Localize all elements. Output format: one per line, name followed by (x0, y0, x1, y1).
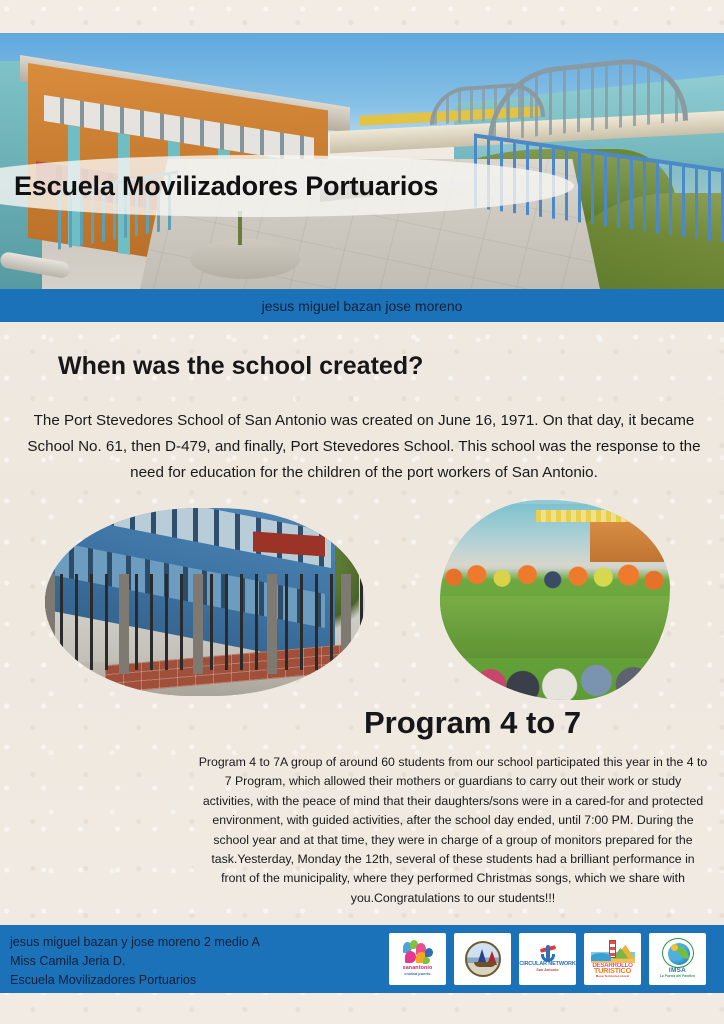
san-antonio-logo-subtext: ciudad puerto (404, 972, 430, 978)
network-logo: CIRCULAR NETWORK San Antonio (519, 933, 576, 985)
anchor-icon (538, 944, 558, 962)
footer-line-1: jesus miguel bazan y jose moreno 2 medio… (10, 933, 260, 952)
authors-banner-text: jesus miguel bazan jose moreno (262, 298, 463, 314)
hero-photo: Escuela Movilizadores Portuarios (0, 33, 724, 289)
section-two-paragraph: Program 4 to 7A group of around 60 stude… (198, 753, 708, 908)
section-one-heading: When was the school created? (58, 352, 423, 381)
photo-right-crowd-standing (440, 546, 670, 598)
imsa-logo-subtext: La Puerta del Pacifico (660, 974, 695, 980)
footer-logo-strip: sanantonio ciudad puerto CIRCULAR NETWOR… (389, 933, 706, 985)
school-crest-logo-icon (465, 941, 501, 977)
footer-bar: jesus miguel bazan y jose moreno 2 medio… (0, 925, 724, 993)
page-title: Escuela Movilizadores Portuarios (14, 171, 438, 202)
school-building-photo (45, 508, 365, 696)
imsa-logo: IMSA La Puerta del Pacifico (649, 933, 706, 985)
photo-right-awning (536, 510, 632, 522)
footer-line-2: Miss Camila Jeria D. (10, 952, 260, 971)
poster-page: Escuela Movilizadores Portuarios jesus m… (0, 0, 724, 1024)
hero-planter (190, 239, 300, 279)
students-photo (440, 500, 670, 700)
imsa-globe-icon (662, 938, 694, 968)
san-antonio-logo: sanantonio ciudad puerto (389, 933, 446, 985)
photo-left-fence-posts (45, 574, 365, 674)
network-logo-subtext: San Antonio (536, 968, 558, 974)
authors-banner: jesus miguel bazan jose moreno (0, 289, 724, 322)
san-antonio-logo-icon (401, 940, 435, 966)
school-crest-logo (454, 933, 511, 985)
photo-right-crowd-seated (440, 630, 670, 700)
section-two-heading: Program 4 to 7 (364, 705, 581, 741)
footer-line-3: Escuela Movilizadores Portuarios (10, 971, 260, 990)
footer-credits: jesus miguel bazan y jose moreno 2 medio… (10, 933, 260, 990)
lighthouse-icon (591, 939, 635, 963)
section-one-paragraph: The Port Stevedores School of San Antoni… (14, 408, 714, 486)
desarrollo-turistico-logo: DESARROLLO TURISTICO Mesa Territorial Li… (584, 933, 641, 985)
desarrollo-turistico-logo-tertiary: Mesa Territorial Litoral (596, 974, 629, 980)
